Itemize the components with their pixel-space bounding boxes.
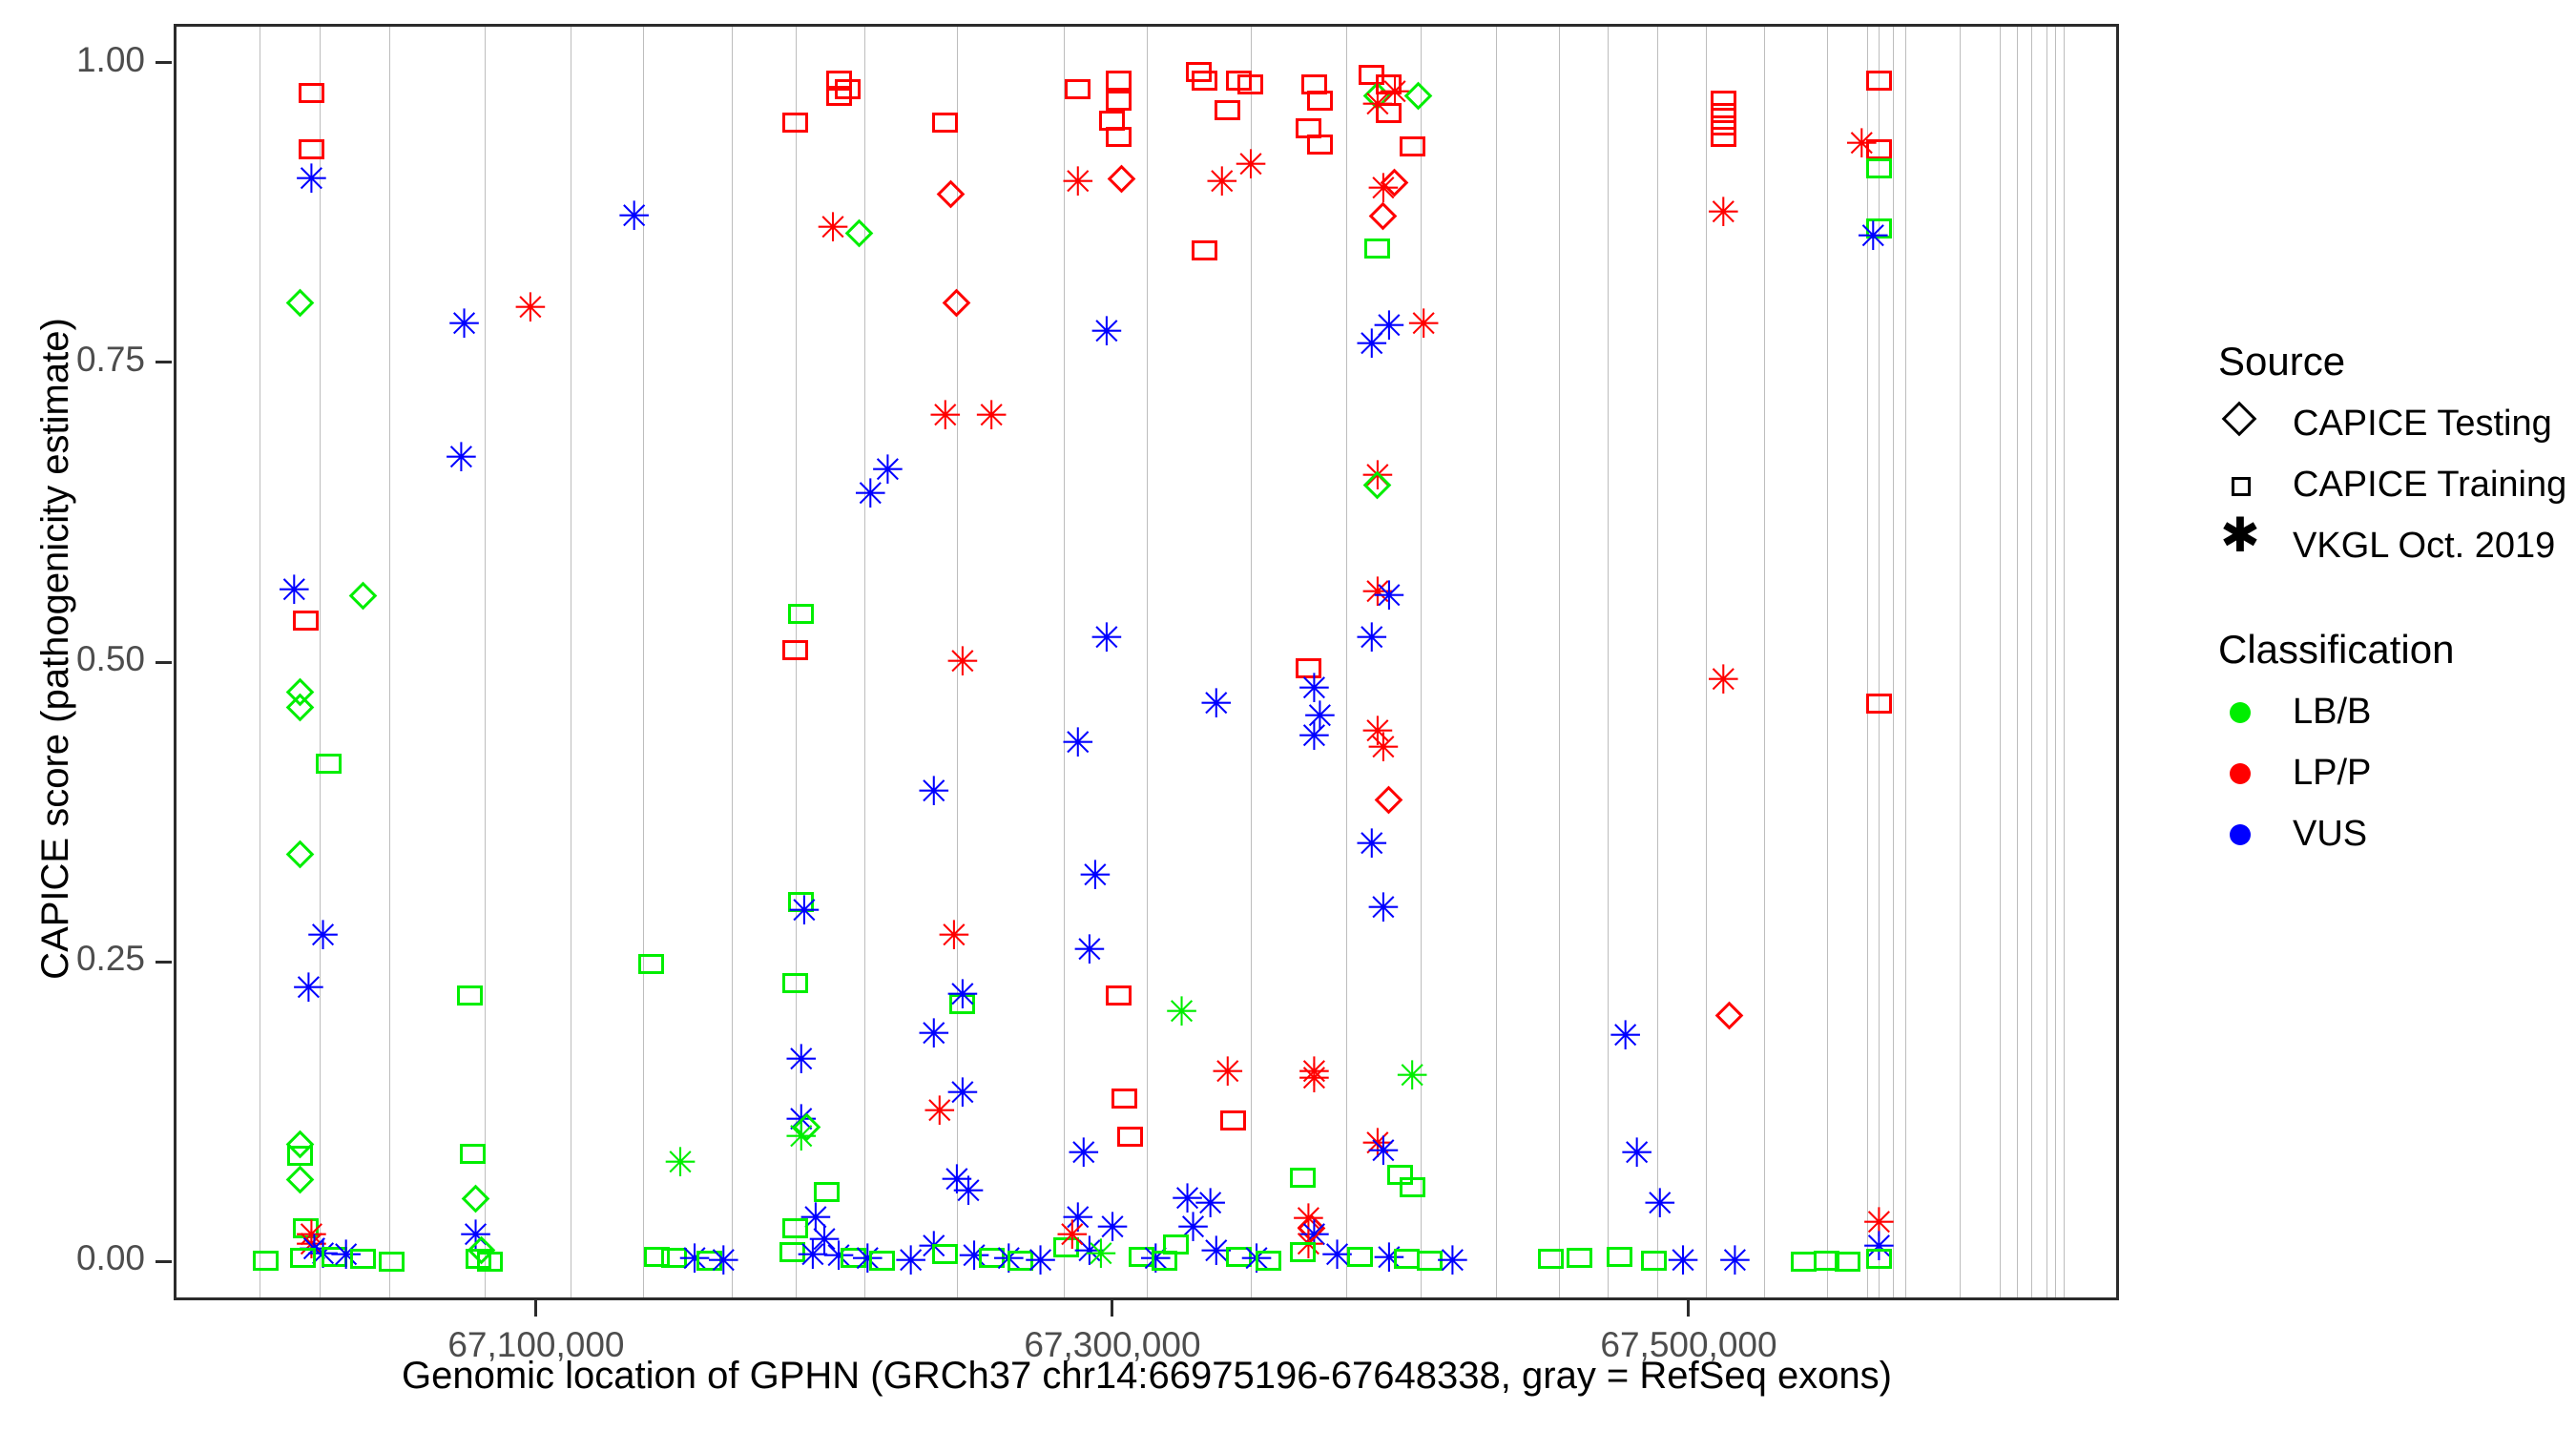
- legend-title-source: Source: [2218, 339, 2562, 384]
- legend-title-classification: Classification: [2218, 627, 2562, 673]
- y-tick-label: 0.50: [0, 639, 145, 679]
- point-square-LP-P: [835, 79, 861, 99]
- point-square-LP-P: [1376, 103, 1402, 123]
- point-square-LB-B: [1866, 1249, 1892, 1269]
- point-square-LP-P: [782, 640, 808, 660]
- point-square-LP-P: [1117, 1127, 1143, 1147]
- point-asterisk-VUS: ✳: [1352, 618, 1392, 658]
- point-asterisk-LB-B: ✳: [660, 1143, 700, 1183]
- point-asterisk-VUS: ✳: [614, 197, 654, 237]
- point-square-LB-B: [1364, 238, 1390, 259]
- point-diamond-LB-B: [349, 582, 378, 611]
- point-asterisk-LP-P: ✳: [1403, 304, 1444, 344]
- point-square-LP-P: [293, 611, 319, 631]
- point-square-LB-B: [287, 1146, 313, 1166]
- legend-label: CAPICE Testing: [2293, 404, 2552, 445]
- y-tick-mark: [156, 661, 172, 664]
- y-tick-label: 0.75: [0, 340, 145, 380]
- point-asterisk-VUS: ✳: [914, 1014, 954, 1054]
- legend-label: VKGL Oct. 2019: [2293, 526, 2555, 567]
- legend-item-capice-testing[interactable]: CAPICE Testing: [2218, 398, 2562, 449]
- point-asterisk-LP-P: ✳: [943, 642, 983, 682]
- point-asterisk-VUS: ✳: [1087, 618, 1127, 658]
- point-square-LP-P: [1307, 91, 1333, 111]
- point-asterisk-VUS: ✳: [1064, 1133, 1104, 1173]
- point-square-LB-B: [253, 1251, 279, 1271]
- point-asterisk-VUS: ✳: [1714, 1241, 1755, 1281]
- point-asterisk-LP-P: ✳: [1052, 1215, 1092, 1255]
- point-square-LB-B: [379, 1252, 405, 1272]
- point-asterisk-LP-P: ✳: [510, 288, 551, 328]
- x-axis-title: Genomic location of GPHN (GRCh37 chr14:6…: [174, 1355, 2120, 1398]
- point-square-LB-B: [1256, 1251, 1281, 1271]
- point-asterisk-LP-P: ✳: [925, 396, 966, 436]
- chart-root: CAPICE score (pathogenicity estimate) ✳✳…: [0, 0, 2576, 1431]
- point-square-LP-P: [1866, 694, 1892, 714]
- point-asterisk-VUS: ✳: [1070, 930, 1110, 970]
- red-dot-icon: [2218, 747, 2272, 798]
- legend-item-vkgl-oct-2019[interactable]: ✱ VKGL Oct. 2019: [2218, 520, 2562, 571]
- legend-group-classification: Classification LB/B LP/P VUS: [2218, 627, 2562, 860]
- legend-label: VUS: [2293, 814, 2367, 855]
- point-square-LB-B: [1163, 1234, 1189, 1255]
- point-square-LB-B: [788, 604, 814, 624]
- point-square-LP-P: [1711, 127, 1736, 147]
- point-square-LB-B: [1394, 1249, 1420, 1269]
- point-square-LP-P: [1065, 79, 1091, 99]
- legend-item-lp-p[interactable]: LP/P: [2218, 747, 2562, 798]
- point-asterisk-LP-P: ✳: [934, 916, 974, 956]
- point-square-LB-B: [316, 754, 342, 774]
- point-asterisk-VUS: ✳: [444, 304, 484, 344]
- point-square-LB-B: [1607, 1247, 1632, 1267]
- point-asterisk-VUS: ✳: [1432, 1241, 1472, 1281]
- point-asterisk-LP-P: ✳: [920, 1091, 960, 1131]
- point-square-LB-B: [782, 973, 808, 993]
- point-diamond-LB-B: [462, 1185, 490, 1213]
- x-tick-mark: [534, 1300, 537, 1317]
- point-asterisk-LP-P: ✳: [1294, 1059, 1334, 1099]
- point-diamond-LB-B: [285, 288, 314, 317]
- point-asterisk-VUS: ✳: [1363, 888, 1403, 928]
- point-asterisk-VUS: ✳: [948, 1172, 988, 1212]
- point-asterisk-VUS: ✳: [784, 891, 824, 931]
- y-tick-mark: [156, 961, 172, 964]
- point-asterisk-VUS: ✳: [291, 159, 331, 199]
- point-square-LB-B: [290, 1248, 316, 1268]
- x-tick-mark: [1687, 1300, 1690, 1317]
- point-square-LB-B: [1866, 158, 1892, 178]
- point-square-LB-B: [477, 1252, 503, 1272]
- legend: Source CAPICE Testing CAPICE Training ✱ …: [2218, 339, 2562, 915]
- point-square-LP-P: [1866, 139, 1892, 159]
- point-diamond-LP-P: [1107, 165, 1135, 194]
- point-asterisk-VUS: ✳: [1606, 1016, 1646, 1056]
- point-asterisk-LB-B: ✳: [1392, 1056, 1432, 1096]
- point-asterisk-VUS: ✳: [441, 438, 481, 478]
- point-asterisk-VUS: ✳: [1853, 217, 1893, 257]
- point-asterisk-LP-P: ✳: [1231, 145, 1271, 185]
- green-dot-icon: [2218, 686, 2272, 737]
- legend-label: LP/P: [2293, 753, 2371, 794]
- point-asterisk-LP-P: ✳: [971, 396, 1011, 436]
- point-diamond-LP-P: [937, 180, 966, 209]
- point-square-LB-B: [1290, 1168, 1316, 1188]
- point-asterisk-VUS: ✳: [1294, 716, 1334, 757]
- point-asterisk-VUS: ✳: [781, 1040, 821, 1080]
- y-tick-label: 0.25: [0, 939, 145, 979]
- x-tick-mark: [1111, 1300, 1113, 1317]
- point-square-LP-P: [1237, 74, 1263, 94]
- point-asterisk-LP-P: ✳: [1058, 162, 1098, 202]
- legend-label: CAPICE Training: [2293, 465, 2566, 506]
- point-square-LP-P: [1866, 71, 1892, 91]
- point-asterisk-VUS: ✳: [1640, 1184, 1680, 1224]
- y-tick-mark: [156, 1260, 172, 1263]
- blue-dot-icon: [2218, 808, 2272, 860]
- point-diamond-LB-B: [285, 840, 314, 868]
- legend-item-capice-training[interactable]: CAPICE Training: [2218, 459, 2562, 510]
- point-asterisk-VUS: ✳: [703, 1241, 743, 1281]
- legend-label: LB/B: [2293, 692, 2371, 733]
- legend-item-lb-b[interactable]: LB/B: [2218, 686, 2562, 737]
- y-tick-label: 0.00: [0, 1238, 145, 1278]
- point-asterisk-VUS: ✳: [1075, 856, 1115, 896]
- point-square-LP-P: [782, 113, 808, 133]
- asterisk-icon: ✱: [2218, 520, 2272, 571]
- point-square-LB-B: [1567, 1248, 1592, 1268]
- point-square-LP-P: [1400, 136, 1425, 156]
- y-tick-mark: [156, 61, 172, 64]
- point-square-LB-B: [1791, 1252, 1817, 1272]
- point-asterisk-VUS: ✳: [914, 772, 954, 812]
- point-asterisk-VUS: ✳: [867, 450, 907, 490]
- point-diamond-LP-P: [1714, 1002, 1743, 1030]
- point-square-LB-B: [1835, 1252, 1860, 1272]
- point-asterisk-LP-P: ✳: [1703, 193, 1743, 233]
- plot-panel: ✳✳✳✳✳✳✳✳✳✳✳✳✳✳✳✳✳✳✳✳✳✳✳✳✳✳✳✳✳✳✳✳✳✳✳✳✳✳✳✳…: [174, 24, 2119, 1300]
- point-asterisk-VUS: ✳: [1352, 324, 1392, 364]
- point-diamond-LB-B: [285, 694, 314, 722]
- point-square-LB-B: [638, 954, 664, 974]
- point-square-LP-P: [1215, 100, 1240, 120]
- point-square-LP-P: [1307, 135, 1333, 155]
- point-square-LB-B: [1538, 1249, 1564, 1269]
- point-asterisk-LP-P: ✳: [813, 208, 853, 248]
- legend-group-source: Source CAPICE Testing CAPICE Training ✱ …: [2218, 339, 2562, 571]
- point-square-LB-B: [350, 1249, 376, 1269]
- y-tick-label: 1.00: [0, 40, 145, 80]
- point-square-LB-B: [1290, 1242, 1316, 1262]
- diamond-icon: [2218, 398, 2272, 449]
- point-square-LP-P: [1192, 71, 1217, 91]
- data-points-layer: ✳✳✳✳✳✳✳✳✳✳✳✳✳✳✳✳✳✳✳✳✳✳✳✳✳✳✳✳✳✳✳✳✳✳✳✳✳✳✳✳…: [177, 27, 2116, 1297]
- point-square-LB-B: [1400, 1177, 1425, 1197]
- point-square-LB-B: [460, 1144, 486, 1164]
- point-asterisk-LP-P: ✳: [1363, 728, 1403, 768]
- legend-item-vus[interactable]: VUS: [2218, 808, 2562, 860]
- point-diamond-LP-P: [1375, 786, 1403, 815]
- point-square-LP-P: [1106, 127, 1132, 147]
- point-asterisk-VUS: ✳: [1196, 684, 1236, 724]
- point-asterisk-VUS: ✳: [1058, 723, 1098, 763]
- point-asterisk-LP-P: ✳: [1703, 660, 1743, 700]
- point-asterisk-VUS: ✳: [302, 916, 343, 956]
- point-asterisk-LP-P: ✳: [1208, 1052, 1248, 1092]
- point-asterisk-VUS: ✳: [288, 968, 328, 1008]
- point-square-LP-P: [1106, 91, 1132, 111]
- square-icon: [2218, 459, 2272, 510]
- point-square-LP-P: [1220, 1110, 1246, 1130]
- point-square-LB-B: [457, 985, 483, 1006]
- point-diamond-LB-B: [285, 1166, 314, 1194]
- point-square-LP-P: [299, 83, 324, 103]
- point-asterisk-VUS: ✳: [1663, 1241, 1703, 1281]
- point-square-LP-P: [1192, 240, 1217, 260]
- point-square-LP-P: [932, 113, 958, 133]
- point-asterisk-VUS: ✳: [1617, 1133, 1657, 1173]
- point-diamond-LP-P: [943, 288, 971, 317]
- point-square-LP-P: [1106, 71, 1132, 91]
- point-asterisk-LB-B: ✳: [781, 1117, 821, 1157]
- point-asterisk-VUS: ✳: [1369, 576, 1409, 616]
- point-asterisk-VUS: ✳: [1087, 312, 1127, 352]
- point-asterisk-LB-B: ✳: [1161, 992, 1201, 1032]
- y-tick-mark: [156, 361, 172, 363]
- point-square-LP-P: [1106, 985, 1132, 1006]
- point-asterisk-VUS: ✳: [274, 570, 314, 611]
- point-square-LP-P: [1111, 1089, 1137, 1109]
- point-asterisk-VUS: ✳: [1352, 824, 1392, 864]
